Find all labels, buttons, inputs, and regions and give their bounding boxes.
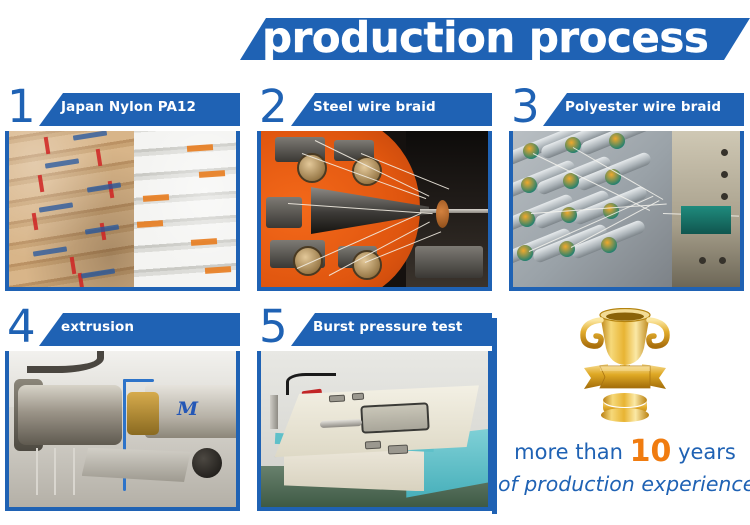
process-step-5: 5 Burst pressure test <box>257 308 492 511</box>
step-number-5: 5 <box>259 304 288 349</box>
vertical-divider <box>492 318 497 514</box>
step-label-4: extrusion <box>61 319 241 335</box>
step-image-frame-5 <box>257 351 492 511</box>
photo-polyester-wire-braid <box>513 131 740 287</box>
years-text: years <box>678 440 736 464</box>
photo-nylon-bags <box>9 131 236 287</box>
step-header-1: 1 Japan Nylon PA12 <box>5 88 240 131</box>
years-number: 10 <box>630 434 672 469</box>
photo-extrusion: M <box>9 351 236 507</box>
step-header-3: 3 Polyester wire braid <box>509 88 744 131</box>
step-number-4: 4 <box>7 304 36 349</box>
process-step-3: 3 Polyester wire braid <box>509 88 744 291</box>
machine-logo: M <box>177 398 198 420</box>
process-step-2: 2 Steel wire braid <box>257 88 492 291</box>
process-step-4: 4 extrusion M <box>5 308 240 511</box>
experience-highlight: more than 10 years of production experie… <box>492 306 750 525</box>
experience-subtitle: of production experience <box>498 472 750 496</box>
more-than-text: more than <box>514 440 623 464</box>
page-header: production process <box>0 0 750 72</box>
gold-trophy-icon <box>570 308 680 426</box>
step-number-3: 3 <box>511 84 540 129</box>
step-header-2: 2 Steel wire braid <box>257 88 492 131</box>
step-label-3: Polyester wire braid <box>565 99 745 115</box>
step-number-1: 1 <box>7 84 36 129</box>
process-step-1: 1 Japan Nylon PA12 <box>5 88 240 291</box>
step-label-2: Steel wire braid <box>313 99 493 115</box>
step-image-frame-2 <box>257 131 492 291</box>
step-image-frame-4: M <box>5 351 240 511</box>
step-label-1: Japan Nylon PA12 <box>61 99 241 115</box>
step-header-5: 5 Burst pressure test <box>257 308 492 351</box>
page-title: production process <box>262 12 742 64</box>
step-image-frame-3 <box>509 131 744 291</box>
step-label-5: Burst pressure test <box>313 319 493 335</box>
step-number-2: 2 <box>259 84 288 129</box>
photo-burst-pressure-test <box>261 351 488 507</box>
step-image-frame-1 <box>5 131 240 291</box>
photo-steel-wire-braid <box>261 131 488 287</box>
experience-years-line: more than 10 years <box>500 434 750 469</box>
step-header-4: 4 extrusion <box>5 308 240 351</box>
